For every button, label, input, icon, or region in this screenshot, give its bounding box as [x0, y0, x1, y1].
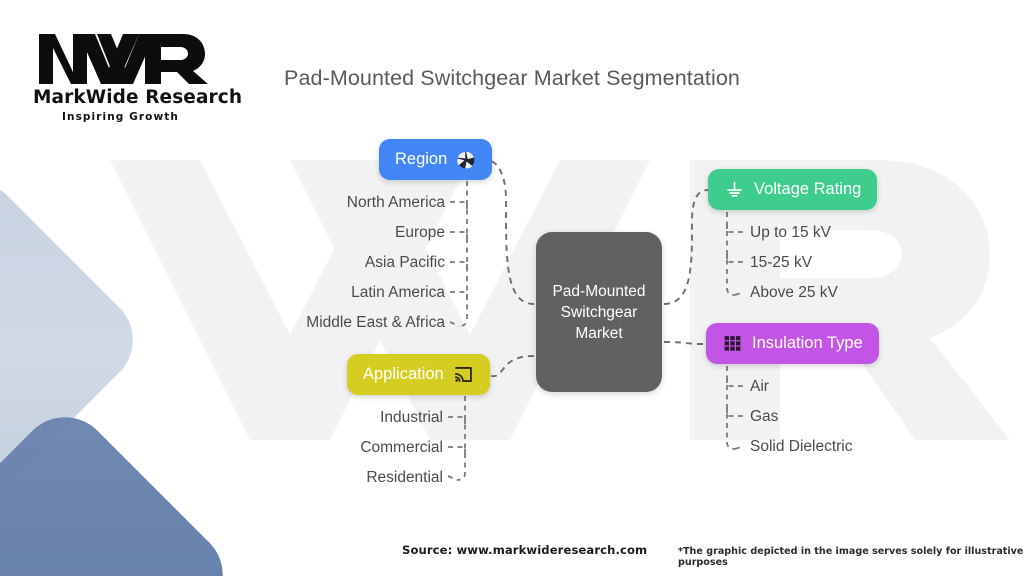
wire-application-spine [457, 396, 465, 480]
leaf-application-2: Residential [250, 470, 443, 486]
leaf-region-4: Middle East & Africa [250, 315, 445, 331]
leaf-insulation-1: Gas [750, 409, 778, 425]
wire-center-to-voltage [664, 190, 708, 304]
wire-center-to-insulation [664, 342, 706, 344]
infographic-canvas: MarkWide Research Inspiring Growth Pad-M… [0, 0, 1024, 576]
leaf-application-1: Commercial [250, 440, 443, 456]
wire-voltage-spine [727, 212, 735, 295]
wire-center-to-application [488, 356, 534, 376]
branch-pill-application-label: Application [363, 366, 444, 383]
branch-pill-voltage-rating[interactable]: Voltage Rating [708, 169, 877, 210]
wire-region-tick-0 [450, 202, 467, 209]
wire-region-tick-3 [450, 292, 467, 299]
wire-voltage-tick-1 [727, 254, 744, 262]
branch-pill-insulation-type[interactable]: Insulation Type [706, 323, 879, 364]
wire-center-to-region [488, 160, 534, 304]
leaf-region-2: Asia Pacific [250, 255, 445, 271]
wire-region-tick-4 [450, 322, 459, 326]
leaf-voltage-1: 15-25 kV [750, 255, 812, 271]
cast-screen-icon [453, 364, 474, 385]
source-attribution: Source: www.markwideresearch.com [402, 543, 647, 557]
branch-pill-region[interactable]: Region [379, 139, 492, 180]
branch-pill-voltage-rating-label: Voltage Rating [754, 181, 861, 198]
wire-application-tick-2 [448, 476, 457, 480]
branch-pill-application[interactable]: Application [347, 354, 490, 395]
leaf-region-0: North America [250, 195, 445, 211]
wire-region-tick-2 [450, 262, 467, 269]
wire-application-tick-1 [448, 447, 465, 454]
center-node-market[interactable]: Pad-Mounted Switchgear Market [536, 232, 662, 392]
wire-insulation-tick-0 [727, 378, 744, 386]
disclaimer-note: *The graphic depicted in the image serve… [678, 546, 1024, 568]
leaf-insulation-0: Air [750, 379, 769, 395]
leaf-application-0: Industrial [250, 410, 443, 426]
leaf-voltage-0: Up to 15 kV [750, 225, 831, 241]
wire-insulation-spine [727, 366, 735, 449]
electrical-ground-icon [724, 179, 745, 200]
leaf-voltage-2: Above 25 kV [750, 285, 838, 301]
wire-application-tick-0 [448, 417, 465, 424]
wire-voltage-tick-2 [735, 292, 744, 295]
leaf-region-3: Latin America [250, 285, 445, 301]
connector-lines [0, 0, 1024, 576]
globe-icon [456, 150, 476, 170]
center-node-label: Pad-Mounted Switchgear Market [536, 281, 662, 344]
wire-region-tick-1 [450, 232, 467, 239]
wire-insulation-tick-1 [727, 408, 744, 416]
branch-pill-region-label: Region [395, 151, 447, 168]
leaf-insulation-2: Solid Dielectric [750, 439, 853, 455]
grid-module-icon [722, 333, 743, 354]
branch-pill-insulation-type-label: Insulation Type [752, 335, 863, 352]
wire-insulation-tick-2 [735, 446, 744, 449]
wire-voltage-tick-0 [727, 224, 744, 232]
leaf-region-1: Europe [250, 225, 445, 241]
